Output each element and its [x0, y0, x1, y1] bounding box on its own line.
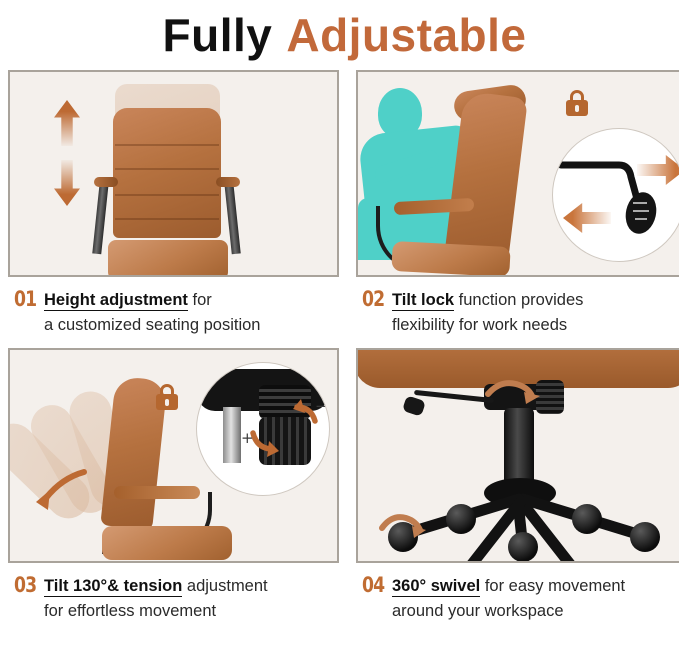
- tension-plus-label: +: [241, 429, 254, 447]
- feature-rest-02: function provides: [454, 291, 583, 309]
- feature-cell-02: 02 Tilt lock function provides flexibili…: [356, 70, 679, 336]
- padlock-icon: [156, 384, 178, 410]
- chair-base-illustration: [358, 350, 679, 561]
- feature-text-01: Height adjustment for a customized seati…: [44, 289, 260, 336]
- caster-wheel-icon: [630, 522, 660, 552]
- backrest-seam: [115, 194, 219, 196]
- feature-image-swivel-base: [356, 348, 679, 563]
- feature-text-03: Tilt 130°& tension adjustment for effort…: [44, 575, 268, 622]
- feature-line2-01: a customized seating position: [44, 314, 260, 336]
- feature-headline-01: Height adjustment: [44, 291, 188, 311]
- backrest-seam: [115, 218, 219, 220]
- feature-number-03: 03: [14, 575, 39, 595]
- curved-arrow-icon: [32, 468, 88, 514]
- feature-rest-01: for: [188, 291, 212, 309]
- chair-seat: [391, 241, 510, 277]
- feature-number-01: 01: [14, 289, 39, 309]
- feature-number-02: 02: [362, 289, 387, 309]
- feature-text-04: 360° swivel for easy movement around you…: [392, 575, 625, 622]
- chair-side-view-with-person-illustration: [358, 72, 679, 275]
- feature-text-02: Tilt lock function provides flexibility …: [392, 289, 583, 336]
- backrest-seam: [115, 144, 219, 146]
- padlock-keyhole: [575, 105, 579, 112]
- page-title-part1: Fully: [163, 12, 273, 58]
- feature-rest-04: for easy movement: [480, 577, 625, 595]
- feature-line2-04: around your workspace: [392, 600, 625, 622]
- feature-caption-03: 03 Tilt 130°& tension adjustment for eff…: [8, 563, 339, 622]
- rotation-arrow-icon: [376, 512, 428, 540]
- tension-minus-label: −: [315, 397, 328, 415]
- arrow-down-icon: [54, 160, 80, 206]
- feature-image-tilt-lock: [356, 70, 679, 277]
- tilt-lever-icon: [553, 129, 679, 261]
- feature-line2-02: flexibility for work needs: [392, 314, 583, 336]
- feature-headline-03: Tilt 130°& tension: [44, 577, 182, 597]
- chair-front-view-illustration: [10, 72, 337, 275]
- feature-image-tilt-tension: + −: [8, 348, 339, 563]
- page-title: Fully Adjustable: [0, 0, 679, 70]
- knob-rotation-arrows: + −: [197, 363, 329, 495]
- tension-knob-inset: + −: [196, 362, 330, 496]
- feature-caption-04: 04 360° swivel for easy movement around …: [356, 563, 679, 622]
- feature-image-height-adjustment: [8, 70, 339, 277]
- feature-line2-03: for effortless movement: [44, 600, 268, 622]
- caster-wheel-icon: [508, 532, 538, 562]
- arrow-up-icon: [54, 100, 80, 146]
- feature-number-04: 04: [362, 575, 387, 595]
- tilt-lever-inset: [552, 128, 679, 262]
- chair-arm-post-left: [92, 182, 108, 255]
- padlock-keyhole: [165, 399, 169, 406]
- infographic-page: Fully Adjustable: [0, 0, 679, 654]
- feature-caption-02: 02 Tilt lock function provides flexibili…: [356, 277, 679, 336]
- chair-seat: [102, 526, 232, 560]
- caster-wheel-icon: [446, 504, 476, 534]
- chair-armrest-left: [94, 177, 118, 187]
- feature-caption-01: 01 Height adjustment for a customized se…: [8, 277, 339, 336]
- feature-rest-03: adjustment: [182, 577, 267, 595]
- chair-recline-positions-illustration: + −: [10, 350, 337, 561]
- page-title-part2: Adjustable: [286, 12, 526, 58]
- rotation-arrow-icon: [480, 376, 542, 406]
- lever-knob: [402, 395, 426, 416]
- backrest-seam: [115, 168, 219, 170]
- feature-headline-02: Tilt lock: [392, 291, 454, 311]
- padlock-icon: [566, 90, 588, 116]
- caster-wheel-icon: [572, 504, 602, 534]
- feature-cell-01: 01 Height adjustment for a customized se…: [8, 70, 339, 336]
- feature-cell-03: + − 03 Tilt 130°& tension adjustment for…: [8, 348, 339, 622]
- feature-grid: 01 Height adjustment for a customized se…: [0, 70, 679, 622]
- chair-armrest-right: [216, 177, 240, 187]
- gas-lift-cylinder: [504, 408, 534, 486]
- feature-headline-04: 360° swivel: [392, 577, 480, 597]
- chair-seat: [108, 240, 228, 277]
- feature-cell-04: 04 360° swivel for easy movement around …: [356, 348, 679, 622]
